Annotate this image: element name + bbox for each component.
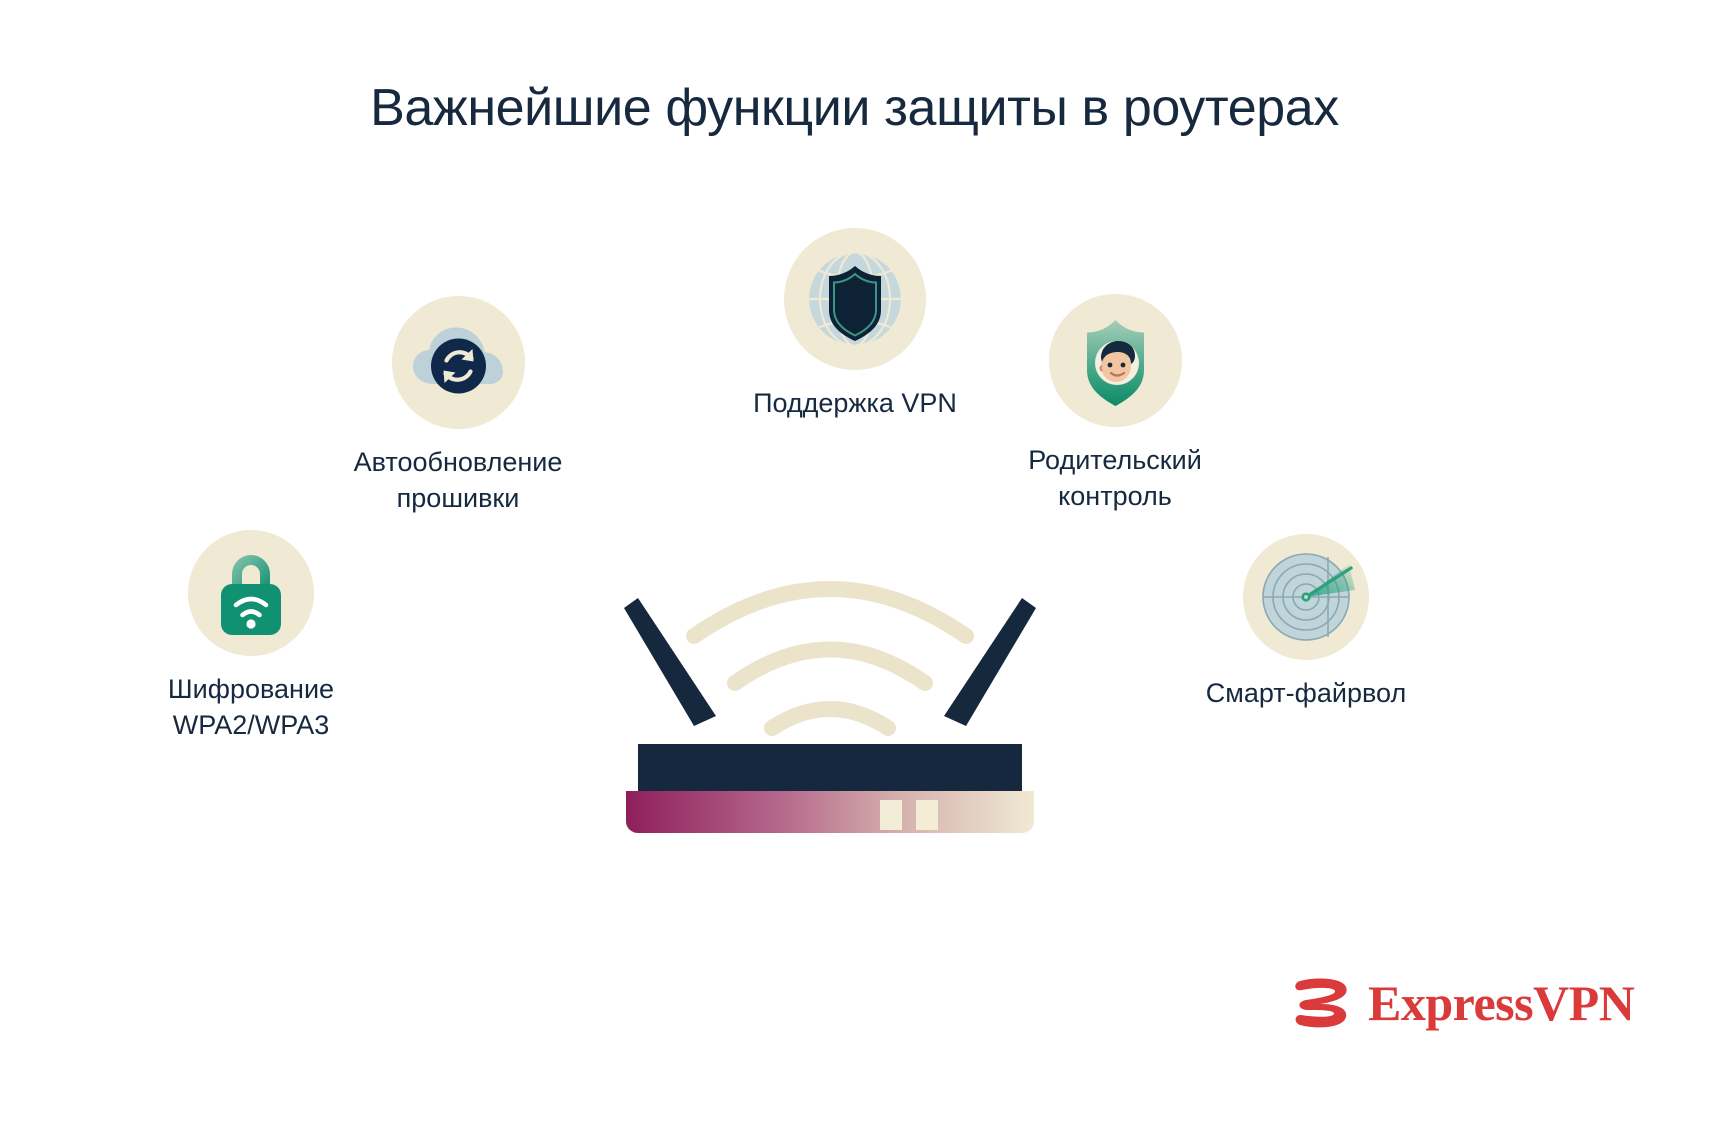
feature-label-parental: Родительский контроль: [910, 443, 1320, 515]
expressvpn-wordmark: ExpressVPN: [1368, 978, 1634, 1028]
cloud-refresh-icon: [392, 296, 525, 429]
feature-firmware: Автообновление прошивки: [252, 296, 664, 517]
expressvpn-mark-icon: [1290, 975, 1354, 1031]
shield-child-icon: [1049, 294, 1182, 427]
feature-encryption: Шифрование WPA2/WPA3: [65, 530, 437, 744]
feature-label-firmware: Автообновление прошивки: [252, 445, 664, 517]
feature-firewall: Смарт-файрвол: [1120, 534, 1492, 712]
wifi-router-illustration: [620, 548, 1040, 848]
feature-label-encryption: Шифрование WPA2/WPA3: [65, 672, 437, 744]
page-title: Важнейшие функции защиты в роутерах: [0, 78, 1709, 138]
infographic-canvas: Важнейшие функции защиты в роутерах: [0, 0, 1709, 1121]
globe-shield-icon: [784, 228, 926, 370]
feature-label-firewall: Смарт-файрвол: [1120, 676, 1492, 712]
expressvpn-logo: ExpressVPN: [1290, 975, 1634, 1031]
feature-parental: Родительский контроль: [910, 294, 1320, 515]
radar-icon: [1243, 534, 1369, 660]
padlock-wifi-icon: [188, 530, 314, 656]
